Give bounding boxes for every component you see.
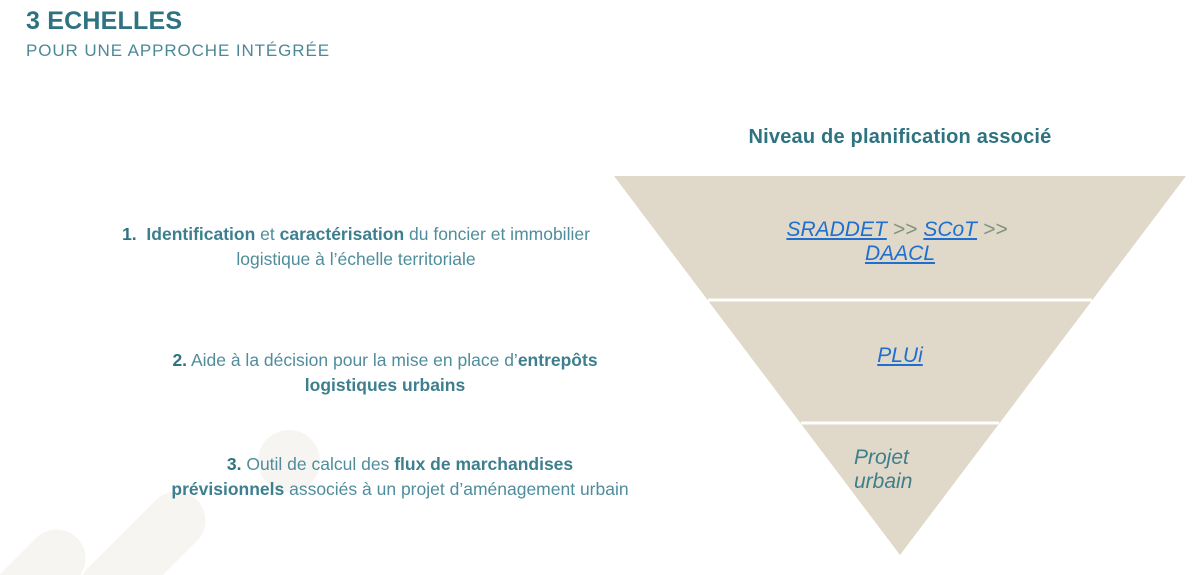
list-item-3-text-b: associés à un projet d’aménagement urbai… <box>284 479 628 499</box>
link-scot[interactable]: SCoT <box>923 218 977 241</box>
list-item-1-bold-a: Identification <box>146 224 255 244</box>
link-daacl[interactable]: DAACL <box>865 242 935 265</box>
list-item-1-number: 1. <box>122 224 137 244</box>
funnel-separator-2: >> <box>983 218 1008 241</box>
funnel-separator-1: >> <box>893 218 918 241</box>
funnel-level-3-label: Projeturbain <box>854 446 1014 494</box>
list-item-1-text-a: et <box>255 224 279 244</box>
page-subtitle: POUR UNE APPROCHE INTÉGRÉE <box>26 41 330 61</box>
link-sraddet[interactable]: SRADDET <box>786 218 886 241</box>
slide-header: 3 ECHELLES POUR UNE APPROCHE INTÉGRÉE <box>26 8 330 61</box>
list-item-2-text-a: Aide à la décision pour la mise en place… <box>191 350 518 370</box>
funnel-level-3-line-2: urbain <box>854 470 912 493</box>
funnel-level-2-label: PLUi <box>614 344 1186 368</box>
funnel-column-heading: Niveau de planification associé <box>614 126 1186 149</box>
list-item-3-number: 3. <box>227 454 242 474</box>
slide-canvas: 3 ECHELLES POUR UNE APPROCHE INTÉGRÉE Ni… <box>0 0 1200 575</box>
list-item-3: 3. Outil de calcul des flux de marchandi… <box>170 452 630 502</box>
decorative-capsule-small <box>0 517 98 575</box>
list-item-2-number: 2. <box>172 350 187 370</box>
list-item-1: 1. Identification et caractérisation du … <box>96 222 616 272</box>
list-item-2: 2. Aide à la décision pour la mise en pl… <box>150 348 620 398</box>
link-plui[interactable]: PLUi <box>877 344 923 367</box>
page-title: 3 ECHELLES <box>26 8 330 36</box>
funnel-level-1-label: SRADDET>>SCoT>>DAACL <box>614 218 1186 266</box>
funnel-level-3-line-1: Projet <box>854 446 909 469</box>
list-item-3-text-a: Outil de calcul des <box>246 454 394 474</box>
list-item-1-bold-b: caractérisation <box>280 224 405 244</box>
